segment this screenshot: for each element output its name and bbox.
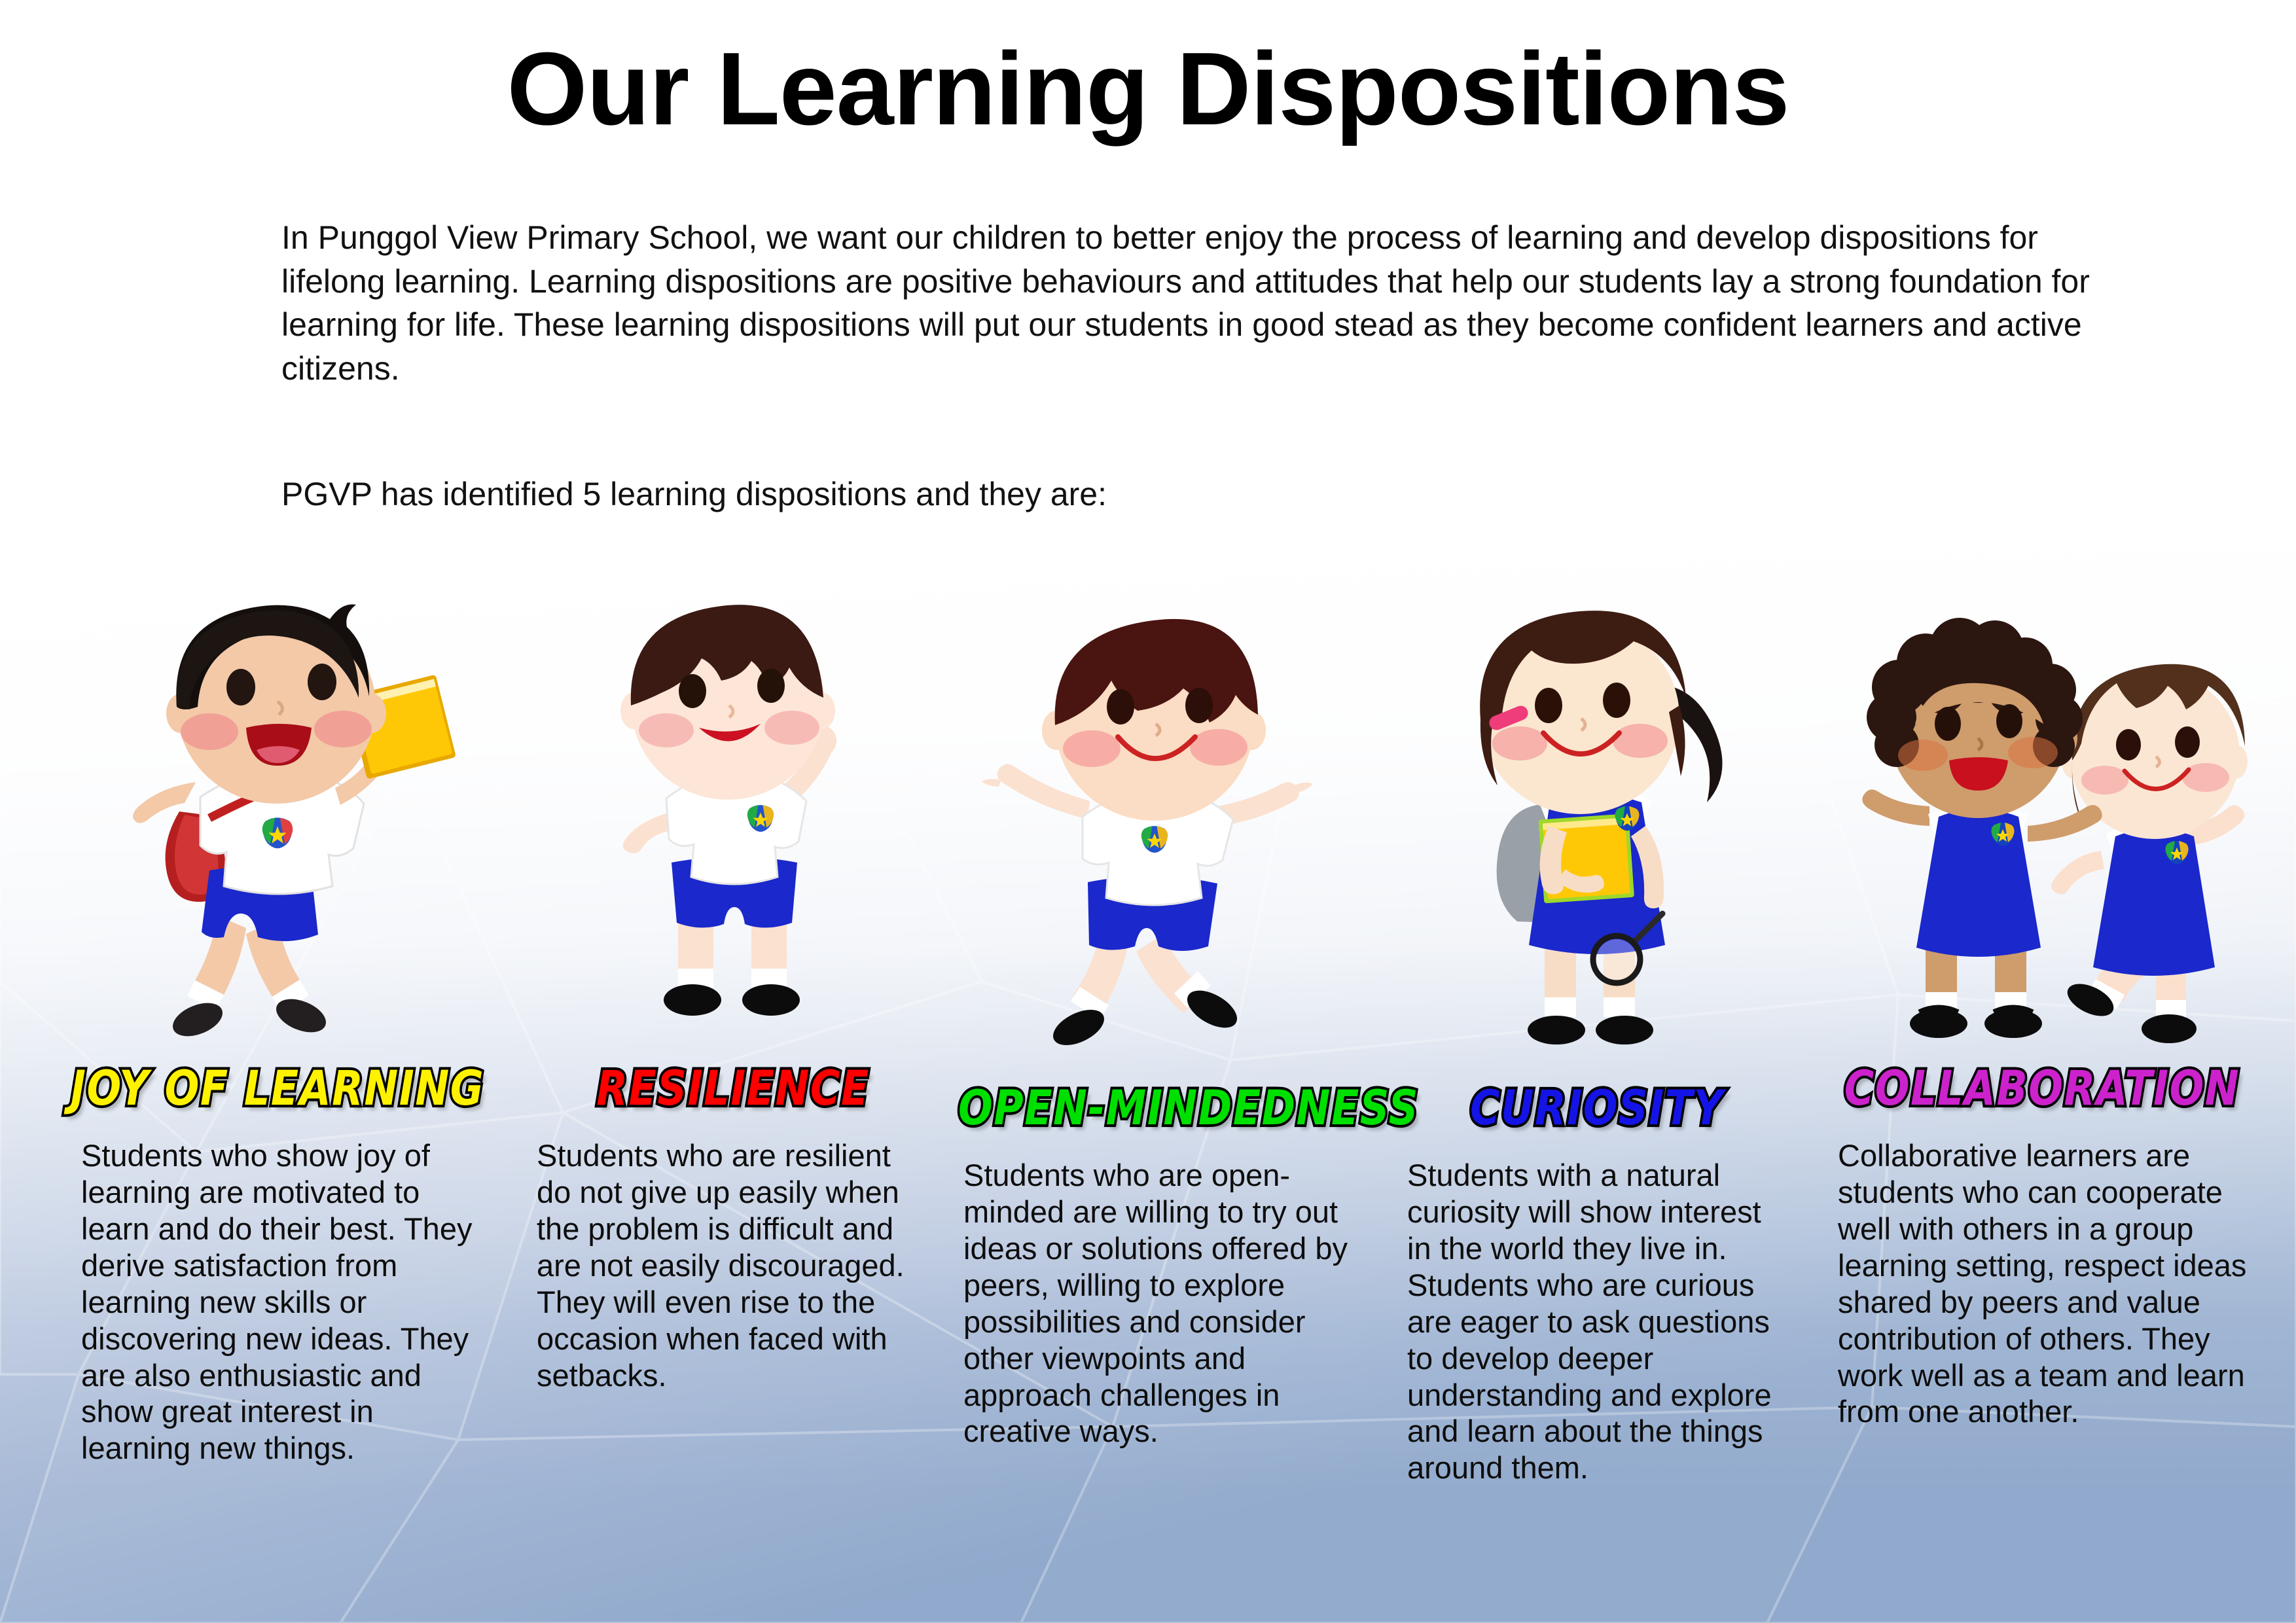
disposition-description: Students who show joy of learning are mo… — [68, 1127, 487, 1467]
disposition-card-open-mindedness: OPEN-MINDEDNESS Students who are open-mi… — [958, 589, 1364, 1623]
label-text: OPEN-MINDEDNESS — [958, 1079, 1419, 1135]
page-title: Our Learning Dispositions — [0, 31, 2296, 147]
disposition-card-collaboration: COLLABORATION Collaborative learners are… — [1833, 589, 2251, 1623]
figure-boy-waving — [537, 589, 929, 1047]
label-text: JOY OF LEARNING — [71, 1060, 484, 1116]
disposition-description: Students with a natural curiosity will s… — [1401, 1147, 1793, 1486]
label-text: CURIOSITY — [1470, 1079, 1724, 1135]
dispositions-row: JOY OF LEARNING Students who show joy of… — [0, 589, 2296, 1623]
figure-boy-arms-outstretched — [958, 589, 1364, 1067]
disposition-label-open-mindedness: OPEN-MINDEDNESS — [958, 1069, 1364, 1147]
disposition-label-joy-of-learning: JOY OF LEARNING — [68, 1050, 487, 1127]
disposition-card-joy-of-learning: JOY OF LEARNING Students who show joy of… — [68, 589, 487, 1623]
intro-subheading: PGVP has identified 5 learning dispositi… — [281, 473, 1107, 516]
poster-canvas: Our Learning Dispositions In Punggol Vie… — [0, 0, 2296, 1623]
disposition-card-curiosity: CURIOSITY Students with a natural curios… — [1401, 589, 1793, 1623]
label-text: RESILIENCE — [596, 1060, 870, 1116]
disposition-description: Students who are resilient do not give u… — [537, 1127, 929, 1393]
figure-boy-jumping-with-book — [68, 589, 487, 1047]
disposition-label-curiosity: CURIOSITY — [1401, 1069, 1793, 1147]
disposition-description: Collaborative learners are students who … — [1833, 1127, 2251, 1430]
intro-paragraph: In Punggol View Primary School, we want … — [281, 216, 2114, 390]
label-text: COLLABORATION — [1844, 1060, 2240, 1116]
disposition-label-collaboration: COLLABORATION — [1833, 1050, 2251, 1127]
intro-block: In Punggol View Primary School, we want … — [281, 216, 2114, 390]
figure-two-girls-together — [1833, 589, 2251, 1047]
figure-girl-with-book-and-magnifier — [1401, 589, 1793, 1067]
disposition-label-resilience: RESILIENCE — [537, 1050, 929, 1127]
disposition-description: Students who are open-minded are willing… — [958, 1147, 1364, 1450]
disposition-card-resilience: RESILIENCE Students who are resilient do… — [537, 589, 929, 1623]
